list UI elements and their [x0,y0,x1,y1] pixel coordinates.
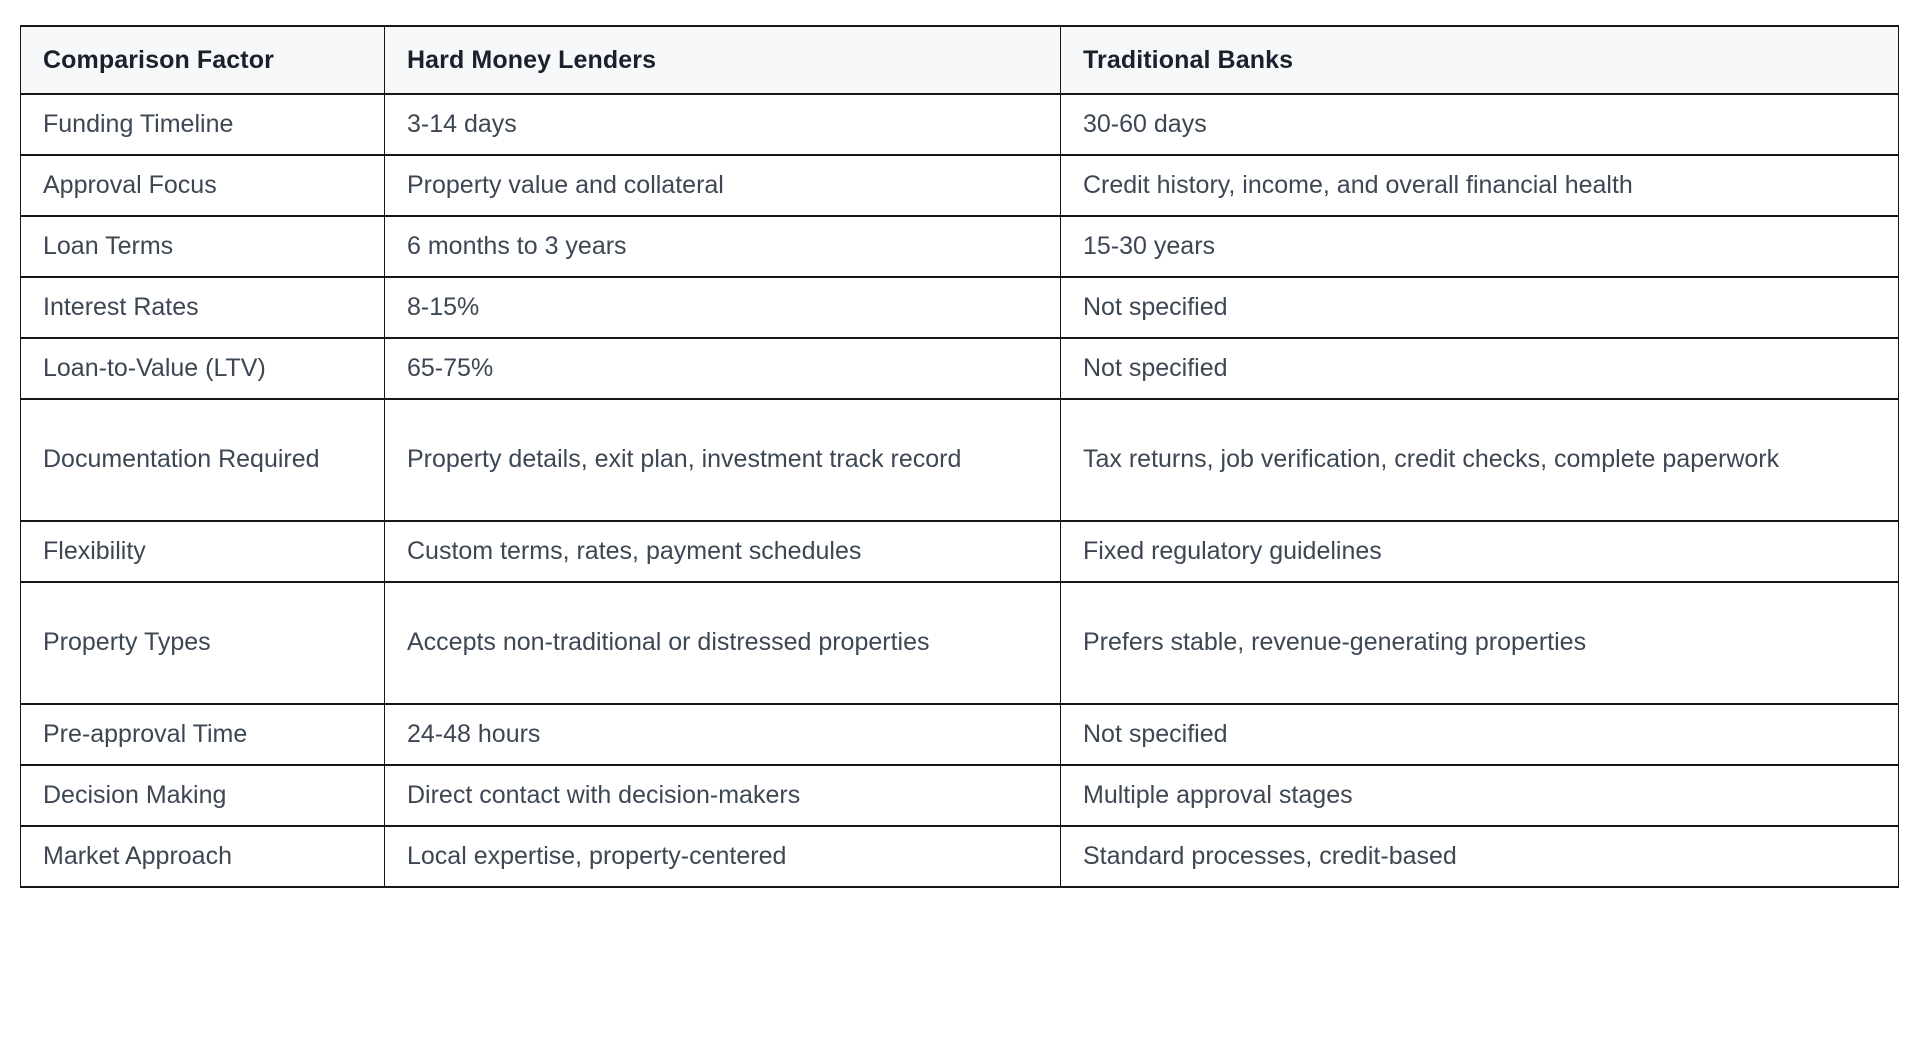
cell-hard-money-lenders: Local expertise, property-centered [385,826,1061,887]
cell-hard-money-lenders-text: 8-15% [407,288,1042,328]
cell-traditional-banks: Credit history, income, and overall fina… [1061,155,1899,216]
cell-comparison-factor: Property Types [21,582,385,704]
cell-comparison-factor: Market Approach [21,826,385,887]
cell-traditional-banks: Not specified [1061,704,1899,765]
column-header-traditional-banks: Traditional Banks [1061,26,1899,94]
cell-traditional-banks: Tax returns, job verification, credit ch… [1061,399,1899,521]
cell-hard-money-lenders-text: Property details, exit plan, investment … [407,440,1042,480]
cell-hard-money-lenders: Accepts non-traditional or distressed pr… [385,582,1061,704]
table-row: Documentation RequiredProperty details, … [21,399,1899,521]
cell-comparison-factor-text: Flexibility [43,532,366,572]
cell-comparison-factor: Decision Making [21,765,385,826]
cell-traditional-banks: 30-60 days [1061,94,1899,155]
table-row: Decision MakingDirect contact with decis… [21,765,1899,826]
cell-comparison-factor: Approval Focus [21,155,385,216]
cell-comparison-factor: Loan-to-Value (LTV) [21,338,385,399]
table-body: Funding Timeline3-14 days30-60 daysAppro… [21,94,1899,887]
table-row: Loan-to-Value (LTV)65-75%Not specified [21,338,1899,399]
cell-comparison-factor: Interest Rates [21,277,385,338]
cell-hard-money-lenders-text: Accepts non-traditional or distressed pr… [407,623,1042,663]
comparison-table: Comparison Factor Hard Money Lenders Tra… [20,25,1899,888]
cell-comparison-factor: Documentation Required [21,399,385,521]
cell-traditional-banks-text: Not specified [1083,715,1880,755]
cell-hard-money-lenders-text: 24-48 hours [407,715,1042,755]
page-container: Comparison Factor Hard Money Lenders Tra… [0,0,1911,1045]
cell-comparison-factor-text: Documentation Required [43,440,366,480]
table-row: Market ApproachLocal expertise, property… [21,826,1899,887]
cell-hard-money-lenders-text: Local expertise, property-centered [407,837,1042,877]
cell-traditional-banks: Multiple approval stages [1061,765,1899,826]
cell-traditional-banks-text: Not specified [1083,288,1880,328]
cell-comparison-factor-text: Loan Terms [43,227,366,267]
column-header-comparison-factor: Comparison Factor [21,26,385,94]
cell-comparison-factor: Loan Terms [21,216,385,277]
cell-traditional-banks: Not specified [1061,277,1899,338]
cell-hard-money-lenders: 3-14 days [385,94,1061,155]
cell-comparison-factor-text: Funding Timeline [43,105,366,145]
cell-hard-money-lenders-text: Direct contact with decision-makers [407,776,1042,816]
cell-hard-money-lenders-text: 6 months to 3 years [407,227,1042,267]
column-header-hard-money-lenders: Hard Money Lenders [385,26,1061,94]
cell-comparison-factor-text: Market Approach [43,837,366,877]
table-row: Loan Terms6 months to 3 years15-30 years [21,216,1899,277]
cell-hard-money-lenders-text: Custom terms, rates, payment schedules [407,532,1042,572]
cell-traditional-banks-text: Credit history, income, and overall fina… [1083,166,1880,206]
cell-comparison-factor-text: Approval Focus [43,166,366,206]
cell-traditional-banks-text: 30-60 days [1083,105,1880,145]
cell-comparison-factor: Pre-approval Time [21,704,385,765]
cell-traditional-banks: Prefers stable, revenue-generating prope… [1061,582,1899,704]
cell-hard-money-lenders: 6 months to 3 years [385,216,1061,277]
cell-comparison-factor: Flexibility [21,521,385,582]
cell-traditional-banks-text: Not specified [1083,349,1880,389]
cell-hard-money-lenders: 24-48 hours [385,704,1061,765]
cell-hard-money-lenders: Direct contact with decision-makers [385,765,1061,826]
cell-traditional-banks-text: 15-30 years [1083,227,1880,267]
cell-traditional-banks-text: Standard processes, credit-based [1083,837,1880,877]
table-header-row: Comparison Factor Hard Money Lenders Tra… [21,26,1899,94]
cell-traditional-banks-text: Prefers stable, revenue-generating prope… [1083,623,1880,663]
cell-hard-money-lenders: 65-75% [385,338,1061,399]
cell-hard-money-lenders: Property value and collateral [385,155,1061,216]
cell-traditional-banks: Fixed regulatory guidelines [1061,521,1899,582]
cell-hard-money-lenders: Custom terms, rates, payment schedules [385,521,1061,582]
table-row: Funding Timeline3-14 days30-60 days [21,94,1899,155]
table-row: Interest Rates8-15%Not specified [21,277,1899,338]
cell-comparison-factor-text: Pre-approval Time [43,715,366,755]
table-row: Pre-approval Time24-48 hoursNot specifie… [21,704,1899,765]
cell-comparison-factor-text: Property Types [43,623,366,663]
cell-traditional-banks-text: Fixed regulatory guidelines [1083,532,1880,572]
cell-traditional-banks: Not specified [1061,338,1899,399]
cell-hard-money-lenders-text: 65-75% [407,349,1042,389]
cell-traditional-banks-text: Tax returns, job verification, credit ch… [1083,440,1880,480]
table-header: Comparison Factor Hard Money Lenders Tra… [21,26,1899,94]
table-row: Property TypesAccepts non-traditional or… [21,582,1899,704]
cell-hard-money-lenders-text: Property value and collateral [407,166,1042,206]
cell-hard-money-lenders-text: 3-14 days [407,105,1042,145]
table-row: FlexibilityCustom terms, rates, payment … [21,521,1899,582]
cell-hard-money-lenders: 8-15% [385,277,1061,338]
cell-traditional-banks-text: Multiple approval stages [1083,776,1880,816]
table-row: Approval FocusProperty value and collate… [21,155,1899,216]
cell-comparison-factor-text: Loan-to-Value (LTV) [43,349,366,389]
cell-hard-money-lenders: Property details, exit plan, investment … [385,399,1061,521]
cell-traditional-banks: 15-30 years [1061,216,1899,277]
cell-comparison-factor-text: Decision Making [43,776,366,816]
cell-comparison-factor-text: Interest Rates [43,288,366,328]
cell-comparison-factor: Funding Timeline [21,94,385,155]
cell-traditional-banks: Standard processes, credit-based [1061,826,1899,887]
